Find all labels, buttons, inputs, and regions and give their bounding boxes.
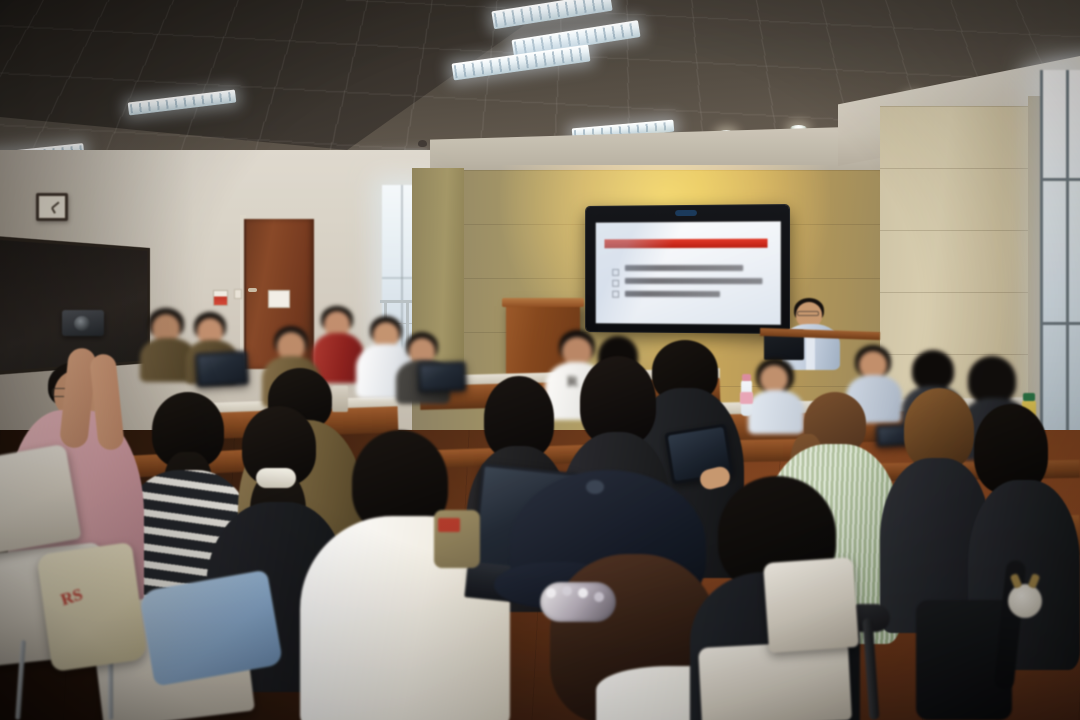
photo-scene: R xyxy=(0,0,1080,720)
cap-button-icon xyxy=(586,480,604,494)
ceiling-sensor-icon xyxy=(268,124,277,131)
patch-logo-icon xyxy=(438,518,460,532)
wall-clock-icon xyxy=(36,193,68,221)
chair-leg xyxy=(108,660,113,720)
door-handle-icon[interactable] xyxy=(248,288,257,292)
bottle-cap-icon xyxy=(1023,393,1035,401)
screen-glare xyxy=(596,221,781,324)
glasses-icon xyxy=(797,311,819,316)
chair[interactable] xyxy=(763,557,859,653)
lectern-top xyxy=(502,298,584,307)
laptop-screen xyxy=(421,364,464,389)
white-scrunchie-icon xyxy=(256,468,296,488)
red-notice-sign xyxy=(213,290,228,306)
light-switch-plate[interactable] xyxy=(234,289,242,299)
camera-lens-icon xyxy=(74,316,90,331)
presentation-display[interactable] xyxy=(586,205,789,333)
far-right-window xyxy=(1040,70,1080,440)
plush-keychain-charm xyxy=(1008,584,1042,618)
video-camera-icon xyxy=(675,210,697,216)
white-notice-sign xyxy=(268,290,290,308)
ceiling-sensor-icon xyxy=(418,140,427,147)
slide-content xyxy=(596,221,781,324)
laptop-open[interactable] xyxy=(417,361,466,393)
